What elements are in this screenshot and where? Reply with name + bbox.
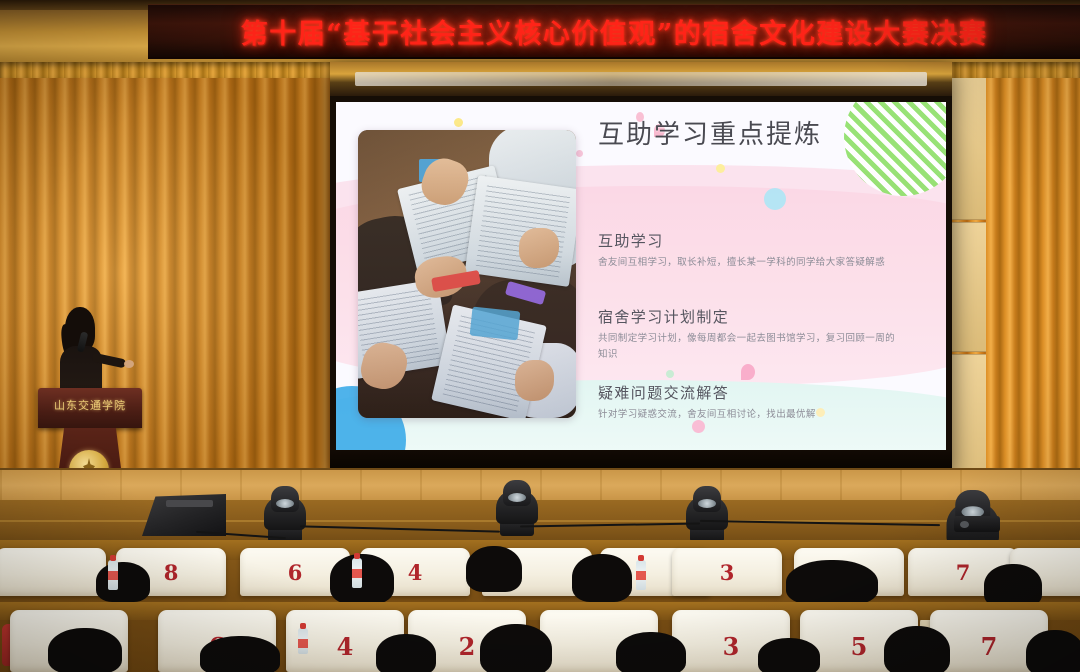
speaker-presenter	[52, 310, 112, 394]
audience-area: 8 6 4 3 7	[0, 540, 1080, 672]
confetti-dot	[576, 150, 583, 157]
audience-member	[466, 546, 522, 592]
confetti-dot	[741, 364, 755, 380]
audience-member	[1026, 630, 1080, 672]
auditorium-scene: 第十届“基于社会主义核心价值观”的宿舍文化建设大赛决赛	[0, 0, 1080, 672]
confetti-dot	[666, 370, 674, 378]
section-heading: 疑难问题交流解答	[598, 382, 898, 403]
audience-member	[572, 554, 632, 602]
wall-panel	[946, 70, 988, 220]
led-banner: 第十届“基于社会主义核心价值观”的宿舍文化建设大赛决赛	[148, 4, 1080, 59]
audience-member	[330, 554, 394, 604]
section-heading: 互助学习	[598, 230, 898, 251]
seat	[0, 548, 106, 596]
podium-university-name: 山东交通学院	[38, 397, 142, 413]
water-bottle	[352, 558, 362, 588]
slide-section: 疑难问题交流解答 针对学习疑惑交流，舍友间互相讨论，找出最优解	[598, 382, 898, 423]
audience-member	[616, 632, 686, 672]
stage-monitor-speaker	[142, 494, 226, 536]
moving-head-light	[262, 480, 308, 542]
wall-panel	[946, 222, 988, 352]
audience-member	[200, 636, 280, 672]
seat-number: 3	[672, 560, 782, 585]
water-bottle	[108, 560, 118, 590]
confetti-dot	[764, 188, 786, 210]
curtain-right-panel	[986, 66, 1080, 516]
screen-top-edge	[330, 62, 952, 96]
projection-screen: 互助学习重点提炼 互助学习 舍友间互相学习，取长补短，擅长某一学科的同学给大家答…	[330, 62, 952, 474]
section-body: 针对学习疑惑交流，舍友间互相讨论，找出最优解	[598, 407, 898, 423]
section-body: 舍友间互相学习，取长补短，擅长某一学科的同学给大家答疑解惑	[598, 255, 898, 271]
audience-member	[786, 560, 878, 606]
confetti-dot	[716, 164, 725, 173]
banner-title: 第十届“基于社会主义核心价值观”的宿舍文化建设大赛决赛	[241, 12, 988, 51]
audience-member	[96, 562, 150, 602]
screen-sheen	[355, 72, 927, 86]
seat: 3	[672, 548, 782, 596]
slide-section: 宿舍学习计划制定 共同制定学习计划，像每周都会一起去图书馆学习，复习回顾一周的知…	[598, 306, 898, 362]
slide-text-column: 互助学习重点提炼 互助学习 舍友间互相学习，取长补短，擅长某一学科的同学给大家答…	[598, 120, 928, 151]
section-body: 共同制定学习计划，像每周都会一起去图书馆学习，复习回顾一周的知识	[598, 331, 898, 362]
audience-member	[376, 634, 436, 672]
stage-floor-box	[954, 516, 1000, 532]
slide-photo	[358, 130, 576, 418]
audience-member	[48, 628, 122, 672]
section-heading: 宿舍学习计划制定	[598, 306, 898, 327]
presentation-slide: 互助学习重点提炼 互助学习 舍友间互相学习，取长补短，擅长某一学科的同学给大家答…	[336, 102, 946, 450]
audience-member	[758, 638, 820, 672]
moving-head-light	[684, 480, 730, 542]
water-bottle	[298, 628, 308, 654]
water-bottle	[636, 560, 646, 590]
audience-member	[884, 626, 950, 672]
slide-section: 互助学习 舍友间互相学习，取长补短，擅长某一学科的同学给大家答疑解惑	[598, 230, 898, 271]
confetti-dot	[454, 118, 463, 127]
slide-title: 互助学习重点提炼	[598, 120, 928, 151]
audience-member	[480, 624, 552, 672]
